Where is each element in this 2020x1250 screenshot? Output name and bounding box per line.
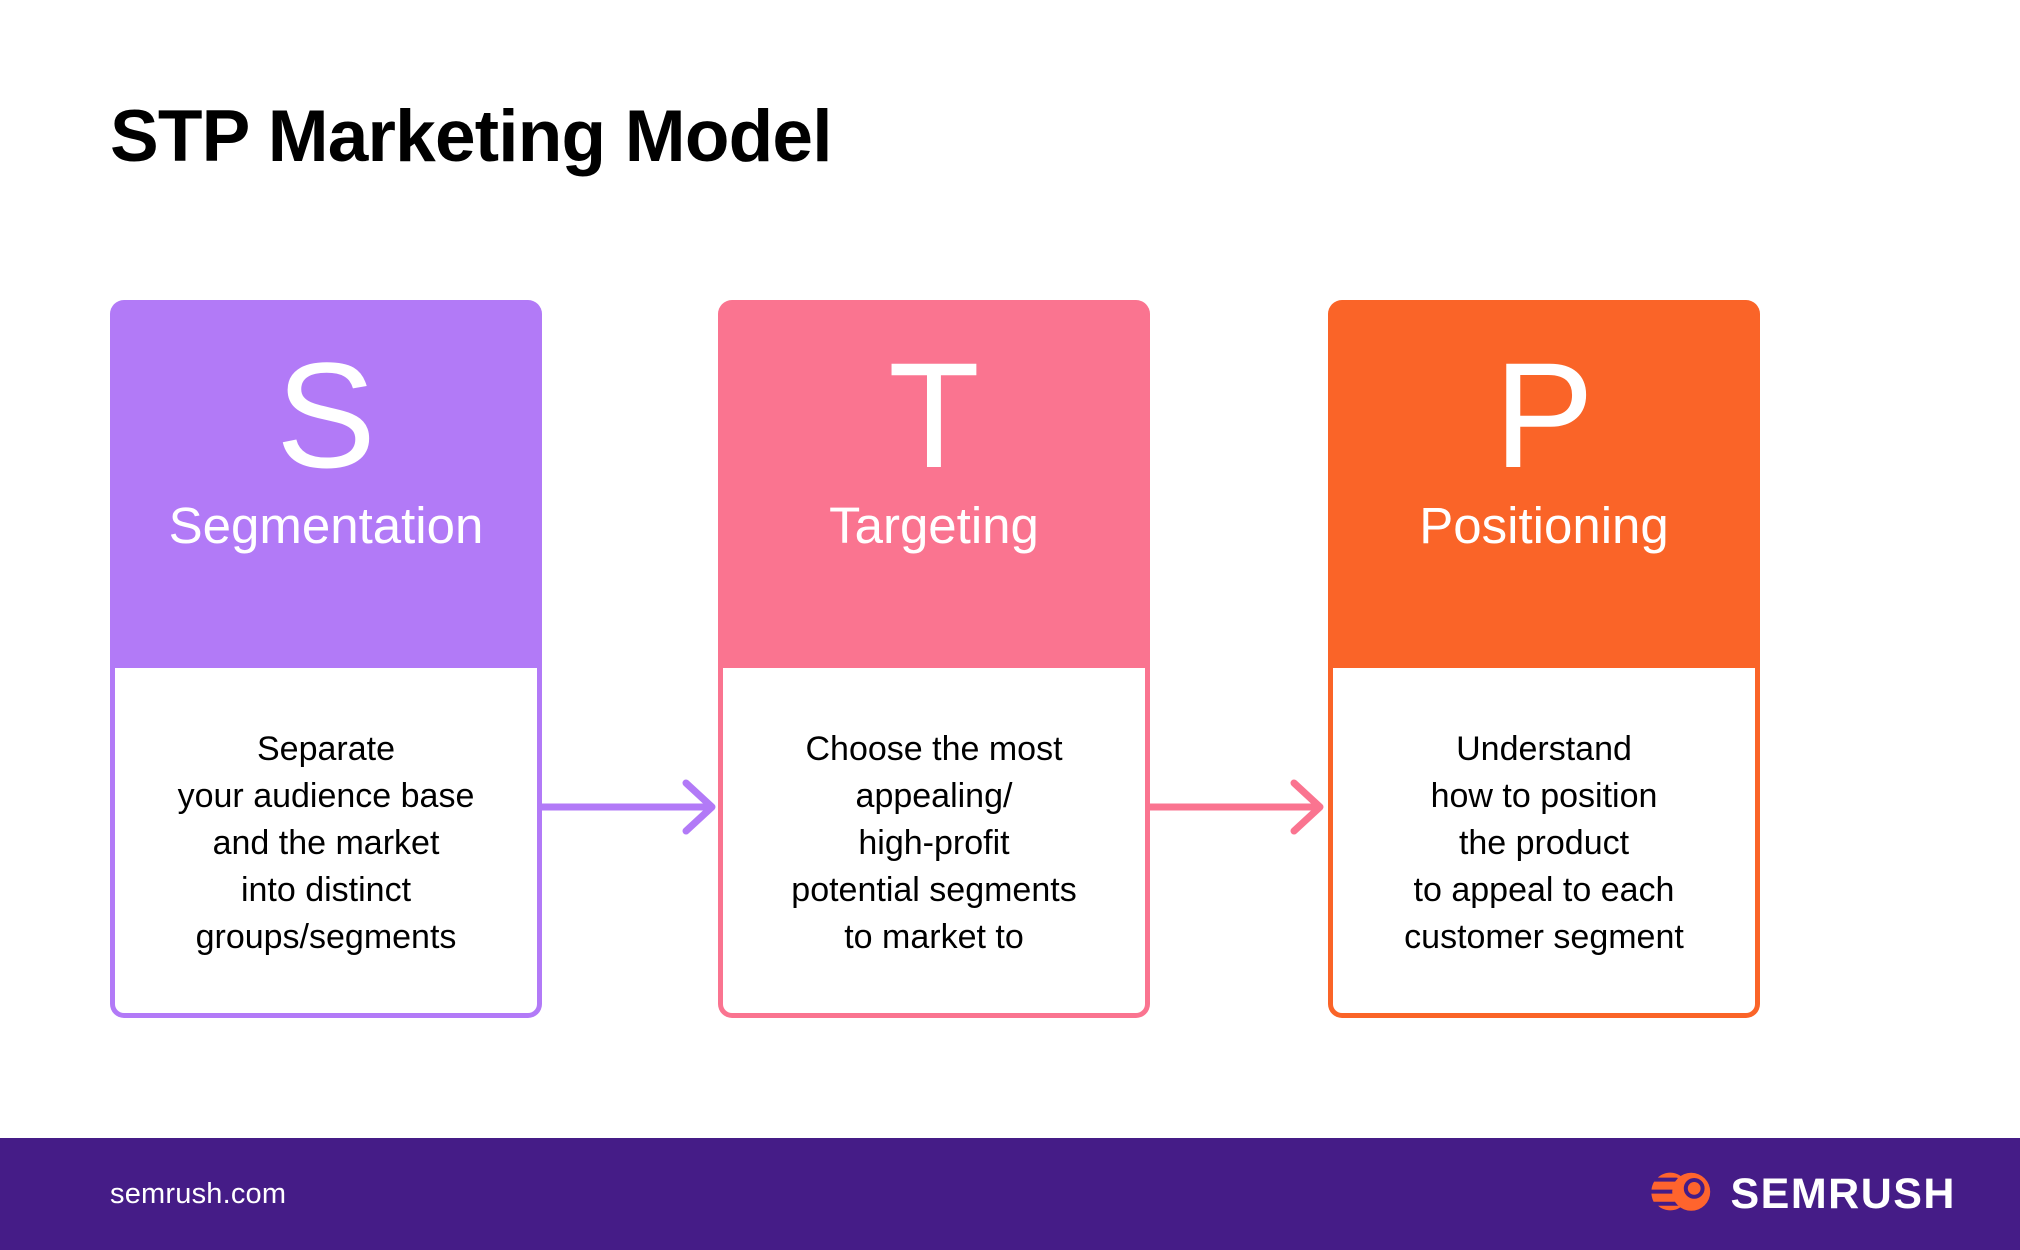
body-line: Understand xyxy=(1456,726,1632,773)
arrow-right-icon xyxy=(542,777,722,837)
body-line: into distinct xyxy=(241,867,411,914)
body-line: your audience base xyxy=(178,773,475,820)
footer-website-url[interactable]: semrush.com xyxy=(110,1178,286,1211)
stage-label-positioning: Positioning xyxy=(1419,500,1669,551)
arrow-segmentation-to-targeting xyxy=(542,777,722,837)
body-line: the product xyxy=(1459,820,1629,867)
stage-card-segmentation: S Segmentation Separate your audience ba… xyxy=(110,300,542,1018)
stage-body-targeting: Choose the most appealing/ high-profit p… xyxy=(718,668,1150,1018)
body-line: to appeal to each xyxy=(1414,867,1675,914)
body-line: Choose the most xyxy=(805,726,1062,773)
body-line: to market to xyxy=(844,914,1024,961)
stage-header-segmentation: S Segmentation xyxy=(110,300,542,668)
stp-marketing-model-infographic: STP Marketing Model S Segmentation Separ… xyxy=(0,0,2020,1250)
stage-label-segmentation: Segmentation xyxy=(169,500,484,551)
stage-header-targeting: T Targeting xyxy=(718,300,1150,668)
page-title: STP Marketing Model xyxy=(110,95,832,178)
semrush-comet-icon xyxy=(1648,1169,1712,1220)
body-line: customer segment xyxy=(1404,914,1684,961)
stage-body-positioning: Understand how to position the product t… xyxy=(1328,668,1760,1018)
semrush-logo[interactable]: SEMRUSH xyxy=(1648,1169,1956,1220)
arrow-targeting-to-positioning xyxy=(1150,777,1330,837)
body-line: high-profit xyxy=(858,820,1009,867)
stage-card-positioning: P Positioning Understand how to position… xyxy=(1328,300,1760,1018)
stage-letter-p: P xyxy=(1494,340,1594,490)
arrow-right-icon xyxy=(1150,777,1330,837)
footer-bar: semrush.com SEMRUSH xyxy=(0,1138,2020,1250)
stage-letter-t: T xyxy=(888,340,980,490)
stage-header-positioning: P Positioning xyxy=(1328,300,1760,668)
stage-label-targeting: Targeting xyxy=(829,500,1039,551)
body-line: appealing/ xyxy=(856,773,1013,820)
stage-body-segmentation: Separate your audience base and the mark… xyxy=(110,668,542,1018)
body-line: potential segments xyxy=(791,867,1076,914)
body-line: Separate xyxy=(257,726,395,773)
body-line: and the market xyxy=(213,820,440,867)
stage-card-targeting: T Targeting Choose the most appealing/ h… xyxy=(718,300,1150,1018)
stage-letter-s: S xyxy=(276,340,376,490)
body-line: groups/segments xyxy=(196,914,457,961)
body-line: how to position xyxy=(1431,773,1658,820)
stp-stages-row: S Segmentation Separate your audience ba… xyxy=(0,300,2020,1040)
semrush-wordmark: SEMRUSH xyxy=(1730,1173,1956,1216)
